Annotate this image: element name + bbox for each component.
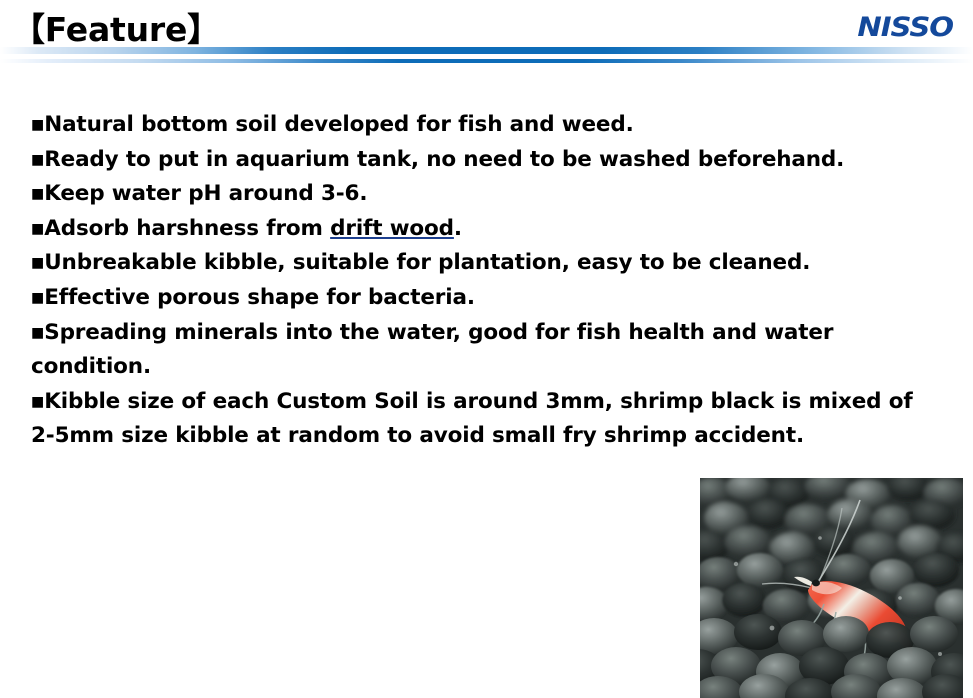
shrimp-photo-image	[700, 478, 963, 698]
list-item: ■Spreading minerals into the water, good…	[31, 316, 936, 385]
feature-list: ■Natural bottom soil developed for fish …	[31, 108, 936, 454]
list-item-text: Natural bottom soil developed for fish a…	[44, 112, 633, 137]
list-item: ■Keep water pH around 3-6.	[31, 177, 936, 212]
list-item: ■Ready to put in aquarium tank, no need …	[31, 143, 936, 178]
list-item-text-after: .	[454, 216, 462, 241]
bullet-square-icon: ■	[31, 221, 44, 237]
list-item-text: Spreading minerals into the water, good …	[31, 320, 833, 380]
bullet-square-icon: ■	[31, 255, 44, 271]
bullet-square-icon: ■	[31, 117, 44, 133]
list-item-text: Keep water pH around 3-6.	[44, 181, 367, 206]
list-item-text: Effective porous shape for bacteria.	[44, 285, 475, 310]
bullet-square-icon: ■	[31, 186, 44, 202]
page-title: 【Feature】	[12, 3, 220, 51]
slide-header: 【Feature】 NISSO	[0, 0, 973, 68]
list-item: ■Effective porous shape for bacteria.	[31, 281, 936, 316]
header-divider-thin	[0, 59, 973, 63]
bullet-square-icon: ■	[31, 325, 44, 341]
list-item-text-before: Adsorb harshness from	[44, 216, 330, 241]
bullet-square-icon: ■	[31, 152, 44, 168]
list-item: ■Unbreakable kibble, suitable for planta…	[31, 246, 936, 281]
bullet-square-icon: ■	[31, 290, 44, 306]
drift-wood-emphasis: drift wood	[330, 216, 454, 241]
list-item: ■Adsorb harshness from drift wood.	[31, 212, 936, 247]
header-divider-thick	[0, 47, 973, 54]
list-item-text: Unbreakable kibble, suitable for plantat…	[44, 250, 810, 275]
list-item: ■Natural bottom soil developed for fish …	[31, 108, 936, 143]
list-item: ■Kibble size of each Custom Soil is arou…	[31, 385, 936, 454]
shrimp-photo	[700, 478, 963, 698]
bullet-square-icon: ■	[31, 394, 44, 410]
list-item-text: Ready to put in aquarium tank, no need t…	[44, 147, 844, 172]
nisso-logo-text: NISSO	[829, 14, 953, 42]
nisso-logo: NISSO	[838, 14, 953, 42]
list-item-text: Kibble size of each Custom Soil is aroun…	[31, 389, 913, 449]
